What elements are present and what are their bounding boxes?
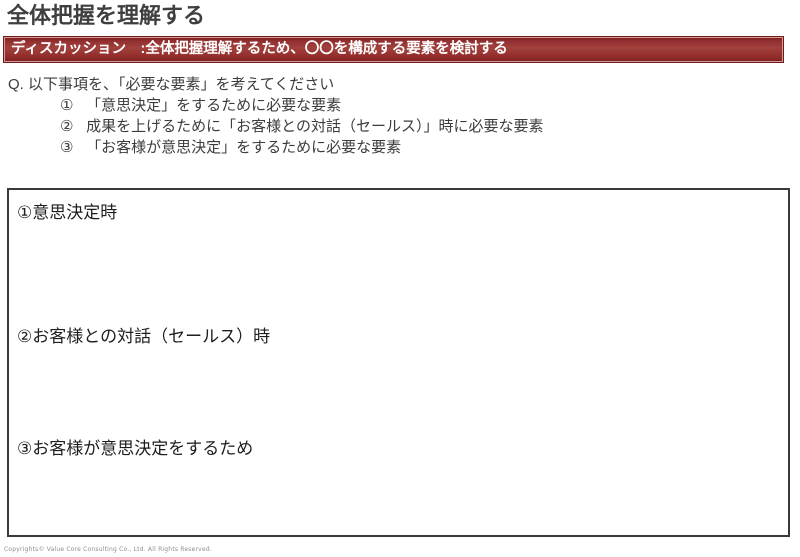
question-block: Q. 以下事項を、「必要な要素」を考えてください ① 「意思決定」をするために必… [8, 74, 788, 158]
question-item-2-label: 成果を上げるために「お客様との対話（セールス）」時に必要な要素 [86, 118, 543, 135]
question-item-list: ① 「意思決定」をするために必要な要素 ② 成果を上げるために「お客様との対話（… [8, 95, 788, 158]
question-item-2: ② 成果を上げるために「お客様との対話（セールス）」時に必要な要素 [8, 116, 788, 137]
page-title: 全体把握を理解する [7, 1, 787, 30]
answer-row-3-label: ③お客様が意思決定をするため [17, 438, 253, 460]
answer-box[interactable]: ①意思決定時 ②お客様との対話（セールス）時 ③お客様が意思決定をするため [7, 188, 790, 537]
answer-row-2-label: ②お客様との対話（セールス）時 [17, 326, 270, 348]
question-lead: Q. 以下事項を、「必要な要素」を考えてください [8, 74, 788, 95]
question-item-3-marker: ③ [60, 137, 82, 158]
discussion-banner-text: ディスカッション :全体把握理解するため、〇〇を構成する要素を検討する [11, 38, 780, 61]
copyright-footer: Copyrights© Value Core Consulting Co., L… [4, 546, 212, 553]
question-item-2-marker: ② [60, 116, 82, 137]
question-item-1-label: 「意思決定」をするために必要な要素 [86, 97, 341, 114]
question-item-1: ① 「意思決定」をするために必要な要素 [8, 95, 788, 116]
slide-canvas: 全体把握を理解する ディスカッション :全体把握理解するため、〇〇を構成する要素… [0, 0, 800, 557]
discussion-banner: ディスカッション :全体把握理解するため、〇〇を構成する要素を検討する [4, 37, 783, 62]
question-item-3-label: 「お客様が意思決定」をするために必要な要素 [86, 139, 401, 156]
answer-row-1-label: ①意思決定時 [17, 202, 117, 224]
question-item-1-marker: ① [60, 95, 82, 116]
question-item-3: ③ 「お客様が意思決定」をするために必要な要素 [8, 137, 788, 158]
